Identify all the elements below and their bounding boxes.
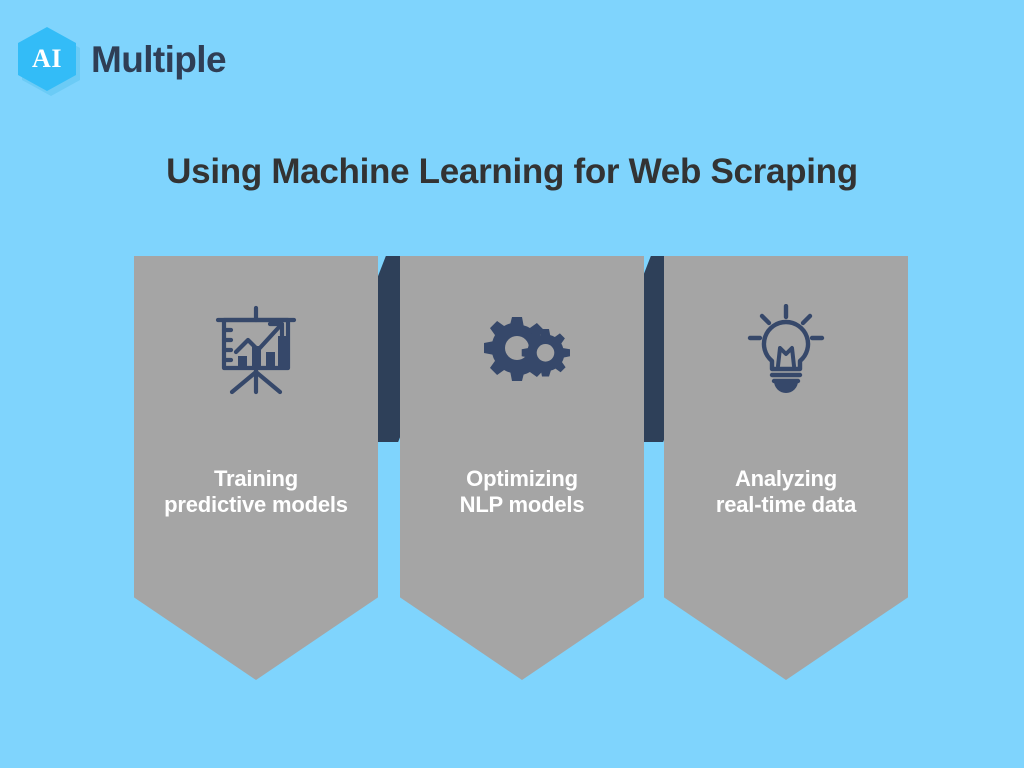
banner-label-line2: real-time data bbox=[670, 492, 902, 518]
banner-item-optimizing[interactable]: Optimizing NLP models bbox=[400, 256, 644, 680]
banner-label-line2: NLP models bbox=[406, 492, 638, 518]
banner-label-optimizing: Optimizing NLP models bbox=[406, 466, 638, 519]
banner-group: Training predictive models Optimizing NL… bbox=[134, 256, 908, 680]
brand-mark-text: AI bbox=[18, 27, 76, 91]
banner-label-analyzing: Analyzing real-time data bbox=[670, 466, 902, 519]
banner-label-line1: Analyzing bbox=[735, 466, 837, 491]
banner-item-analyzing[interactable]: Analyzing real-time data bbox=[664, 256, 908, 680]
banner-label-line1: Optimizing bbox=[466, 466, 578, 491]
brand-logo[interactable]: AI Multiple bbox=[18, 27, 226, 95]
hexagon-icon: AI bbox=[18, 27, 80, 95]
slide-canvas: AI Multiple Using Machine Learning for W… bbox=[0, 0, 1024, 768]
banner-label-training: Training predictive models bbox=[140, 466, 372, 519]
gears-icon bbox=[474, 298, 570, 402]
lightbulb-icon bbox=[744, 298, 828, 402]
banner-item-training[interactable]: Training predictive models bbox=[134, 256, 378, 680]
banner-label-line1: Training bbox=[214, 466, 298, 491]
banner-label-line2: predictive models bbox=[140, 492, 372, 518]
presentation-chart-icon bbox=[212, 298, 300, 402]
page-title: Using Machine Learning for Web Scraping bbox=[0, 152, 1024, 192]
brand-wordmark: Multiple bbox=[91, 41, 226, 82]
